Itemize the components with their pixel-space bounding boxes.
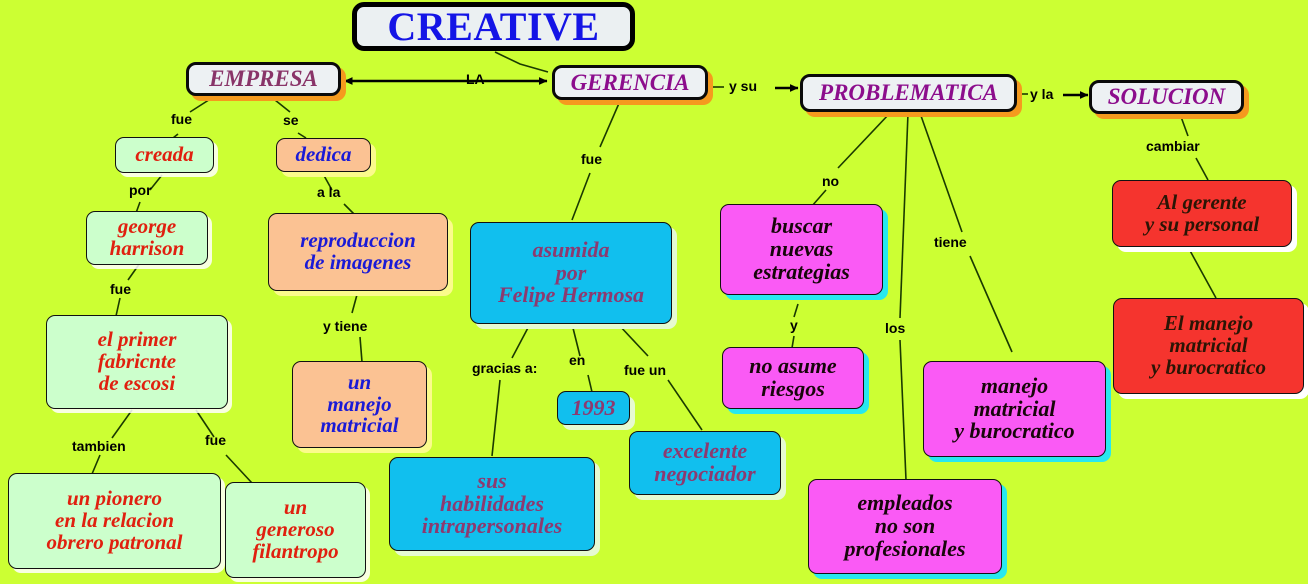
edge-en-1993 [588,375,592,392]
edge-george-fue [128,263,140,280]
edge-fue-fabricante [116,298,120,316]
node-habilidades-label: sus habilidades intrapersonales [422,470,563,539]
node-manejo-matricial-magenta[interactable]: manejo matricial y burocratico [923,361,1106,457]
node-george-harrison[interactable]: george harrison [86,211,208,265]
node-problematica-label: PROBLEMATICA [819,81,998,105]
edge-los-empleados [900,340,906,480]
edge-label-tambien: tambien [72,438,126,454]
edge-label-fue-un: fue un [624,362,666,378]
node-dedica-label: dedica [296,144,352,166]
edge-label-tiene: tiene [934,234,967,250]
node-problematica[interactable]: PROBLEMATICA [800,74,1017,112]
edge-empresa-fue [190,96,215,112]
edge-tambien-pionero [92,455,100,474]
node-al-gerente-label: Al gerente y su personal [1145,192,1259,236]
node-asumida[interactable]: asumida por Felipe Hermosa [470,222,672,324]
edge-tiene-manejo [970,256,1012,352]
node-manejo-matricial-peach[interactable]: un manejo matricial [292,361,427,448]
node-no-asume-riesgos[interactable]: no asume riesgos [722,347,864,409]
node-no-asume-riesgos-label: no asume riesgos [749,355,836,401]
edge-solucion-cambiar [1180,114,1188,136]
node-empleados[interactable]: empleados no son profesionales [808,479,1002,574]
edge-title-gerencia [495,52,548,72]
node-el-manejo-label: El manejo matricial y burocratico [1151,313,1266,378]
node-george-harrison-label: george harrison [110,216,185,260]
node-asumida-label: asumida por Felipe Hermosa [498,239,644,308]
node-reproduccion[interactable]: reproduccion de imagenes [268,213,448,291]
edge-label-y-riesgos: y [790,317,798,333]
node-reproduccion-label: reproduccion de imagenes [300,230,416,274]
edge-problematica-no [838,113,890,168]
edge-label-a-la: a la [317,184,340,200]
edge-algerente-elmanejo [1188,247,1216,298]
edge-asumida-gracias [512,324,530,358]
node-primer-fabricante[interactable]: el primer fabricnte de escosi [46,315,228,409]
node-al-gerente[interactable]: Al gerente y su personal [1112,180,1292,247]
edge-label-en: en [569,352,585,368]
node-primer-fabricante-label: el primer fabricnte de escosi [98,329,177,394]
edge-label-y-su: y su [729,78,757,94]
node-gerencia-label: GERENCIA [571,71,690,95]
edge-label-se: se [283,112,299,128]
edge-label-la: LA [466,71,485,87]
node-empleados-label: empleados no son profesionales [845,492,966,561]
node-buscar-estrategias-label: buscar nuevas estrategias [753,215,850,284]
edge-label-y-la: y la [1030,86,1053,102]
edge-ytiene-manejo [360,337,362,362]
edge-fue-asumida [572,173,590,220]
concept-map-canvas: CREATIVE EMPRESA GERENCIA PROBLEMATICA S… [0,0,1308,584]
node-solucion-label: SOLUCION [1108,85,1226,109]
edge-buscar-y [794,304,798,317]
node-el-manejo[interactable]: El manejo matricial y burocratico [1113,298,1304,394]
node-generoso-filantropo-label: un generoso filantropo [252,497,338,562]
edge-reproduccion-ytiene [352,291,358,313]
node-buscar-estrategias[interactable]: buscar nuevas estrategias [720,204,883,295]
edge-gracias-habilidades [492,380,500,456]
edge-label-cambiar: cambiar [1146,138,1200,154]
node-generoso-filantropo[interactable]: un generoso filantropo [225,482,366,578]
node-pionero-label: un pionero en la relacion obrero patrona… [47,488,183,553]
edge-label-no: no [822,173,839,189]
edge-gerencia-fue [600,101,620,147]
node-habilidades[interactable]: sus habilidades intrapersonales [389,457,595,551]
node-title[interactable]: CREATIVE [352,2,635,51]
node-manejo-matricial-magenta-label: manejo matricial y burocratico [954,375,1074,444]
node-solucion[interactable]: SOLUCION [1089,80,1244,114]
node-1993-label: 1993 [572,397,616,420]
edge-fabricante-tambien [112,410,132,438]
edge-asumida-fueun [618,324,648,356]
node-creada-label: creada [135,144,193,166]
edge-problematica-tiene [920,113,962,232]
node-empresa[interactable]: EMPRESA [186,62,341,96]
node-excelente-negociador[interactable]: excelente negociador [629,431,781,495]
node-pionero[interactable]: un pionero en la relacion obrero patrona… [8,473,221,569]
edge-empresa-se [270,96,290,112]
node-creada[interactable]: creada [115,137,214,173]
edge-cambiar-algerente [1196,158,1208,180]
edge-label-fue-george: fue [110,281,131,297]
node-1993[interactable]: 1993 [557,391,630,425]
edge-label-los: los [885,320,905,336]
edge-problematica-los [900,113,908,318]
edge-label-fue-empresa: fue [171,111,192,127]
node-dedica[interactable]: dedica [276,138,371,172]
edge-label-gracias-a: gracias a: [472,360,537,376]
edge-label-y-tiene: y tiene [323,318,367,334]
node-empresa-label: EMPRESA [209,67,318,91]
edge-fue-generoso [226,455,252,483]
node-gerencia[interactable]: GERENCIA [552,65,708,100]
node-excelente-negociador-label: excelente negociador [654,440,755,486]
node-title-label: CREATIVE [387,6,599,48]
edge-label-por: por [129,182,152,198]
edge-label-fue-gerencia: fue [581,151,602,167]
node-manejo-matricial-peach-label: un manejo matricial [320,372,398,437]
edge-fueun-negociador [668,380,702,430]
edge-label-fue-generoso: fue [205,432,226,448]
